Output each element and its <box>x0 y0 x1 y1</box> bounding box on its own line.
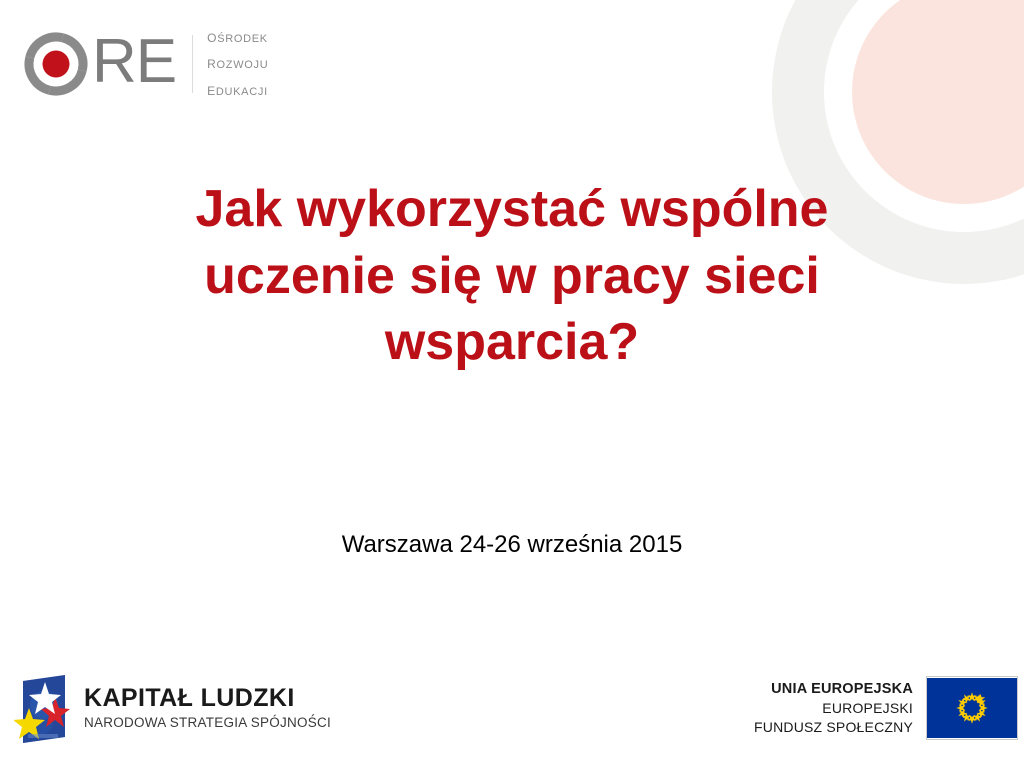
ore-tagline-line-2: Rozwoju <box>207 50 268 76</box>
eu-text-line-1: UNIA EUROPEJSKA <box>754 679 913 699</box>
slide-title: Jak wykorzystać wspólne uczenie się w pr… <box>110 176 914 376</box>
ore-logo-divider <box>192 35 193 93</box>
subtitle-block: Warszawa 24-26 września 2015 <box>0 531 1024 560</box>
european-union-text: UNIA EUROPEJSKA EUROPEJSKI FUNDUSZ SPOŁE… <box>754 679 913 738</box>
ore-logo: RE Ośrodek Rozwoju Edukacji <box>22 24 268 103</box>
ore-tagline-line-1: Ośrodek <box>207 24 268 50</box>
slide-title-line-1: Jak wykorzystać wspólne <box>196 180 829 238</box>
slide-title-line-2: uczenie się w pracy sieci <box>204 247 820 305</box>
ore-logo-tagline: Ośrodek Rozwoju Edukacji <box>207 24 268 103</box>
kapital-ludzki-stars-emblem-icon <box>14 672 70 746</box>
ore-ring-mark-icon <box>22 30 90 98</box>
ore-tagline-line-3: Edukacji <box>207 77 268 103</box>
european-union-logo: UNIA EUROPEJSKA EUROPEJSKI FUNDUSZ SPOŁE… <box>754 676 1018 740</box>
kapital-ludzki-subtitle: NARODOWA STRATEGIA SPÓJNOŚCI <box>84 714 331 733</box>
kapital-ludzki-title: KAPITAŁ LUDZKI <box>84 685 331 711</box>
eu-text-line-3: FUNDUSZ SPOŁECZNY <box>754 718 913 737</box>
eu-flag-icon <box>926 676 1018 740</box>
eu-text-line-2: EUROPEJSKI <box>754 699 913 718</box>
slide-subtitle: Warszawa 24-26 września 2015 <box>0 531 1024 560</box>
kapital-ludzki-logo: KAPITAŁ LUDZKI NARODOWA STRATEGIA SPÓJNO… <box>14 672 331 746</box>
kapital-ludzki-text: KAPITAŁ LUDZKI NARODOWA STRATEGIA SPÓJNO… <box>84 685 331 733</box>
slide-title-line-3: wsparcia? <box>385 313 639 371</box>
presentation-slide: RE Ośrodek Rozwoju Edukacji Jak wykorzys… <box>0 0 1024 768</box>
ore-logo-letters: RE <box>92 31 176 93</box>
title-block: Jak wykorzystać wspólne uczenie się w pr… <box>110 176 914 376</box>
